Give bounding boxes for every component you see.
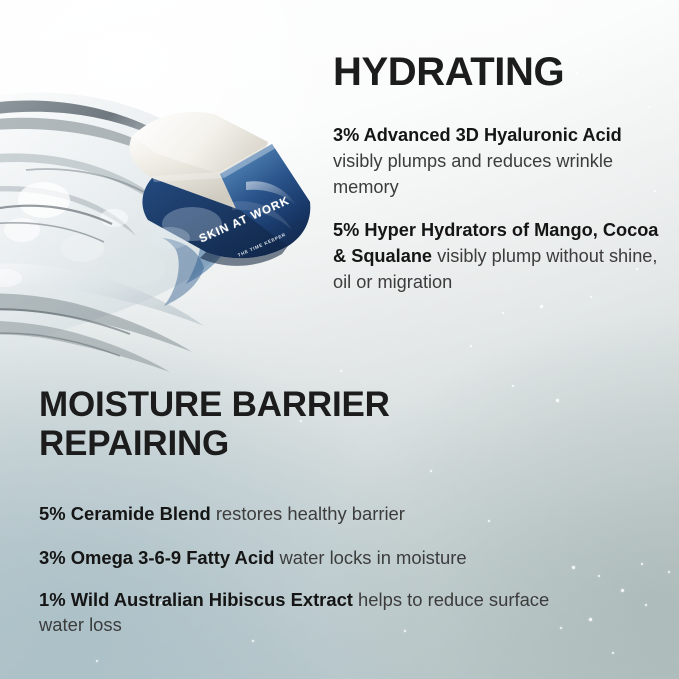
hydrating-paragraph-1: 3% Advanced 3D Hyaluronic Acid visibly p…	[333, 123, 653, 201]
section-heading-hydrating: HYDRATING	[333, 52, 564, 92]
moisture-line-omega: 3% Omega 3-6-9 Fatty Acid water locks in…	[39, 546, 599, 570]
hydrating-paragraph-1-rest: visibly plumps and reduces wrinkle memor…	[333, 151, 613, 197]
moisture-line-omega-bold: 3% Omega 3-6-9 Fatty Acid	[39, 547, 274, 568]
hydrating-paragraph-1-bold: 3% Advanced 3D Hyaluronic Acid	[333, 125, 622, 145]
moisture-line-ceramide-rest: restores healthy barrier	[211, 503, 405, 524]
moisture-line-ceramide: 5% Ceramide Blend restores healthy barri…	[39, 502, 579, 526]
moisture-line-omega-rest: water locks in moisture	[274, 547, 466, 568]
product-jar: SKIN AT WORK THE TIME KEEPER	[96, 98, 326, 303]
section-heading-moisture-barrier-repairing: MOISTURE BARRIER REPAIRING	[39, 386, 509, 463]
hydrating-paragraph-2: 5% Hyper Hydrators of Mango, Cocoa & Squ…	[333, 218, 663, 296]
product-benefits-infographic: SKIN AT WORK THE TIME KEEPER HYDRATING 3…	[0, 0, 679, 679]
moisture-line-hibiscus-bold: 1% Wild Australian Hibiscus Extract	[39, 589, 353, 610]
moisture-line-hibiscus: 1% Wild Australian Hibiscus Extract help…	[39, 588, 559, 637]
moisture-line-ceramide-bold: 5% Ceramide Blend	[39, 503, 211, 524]
